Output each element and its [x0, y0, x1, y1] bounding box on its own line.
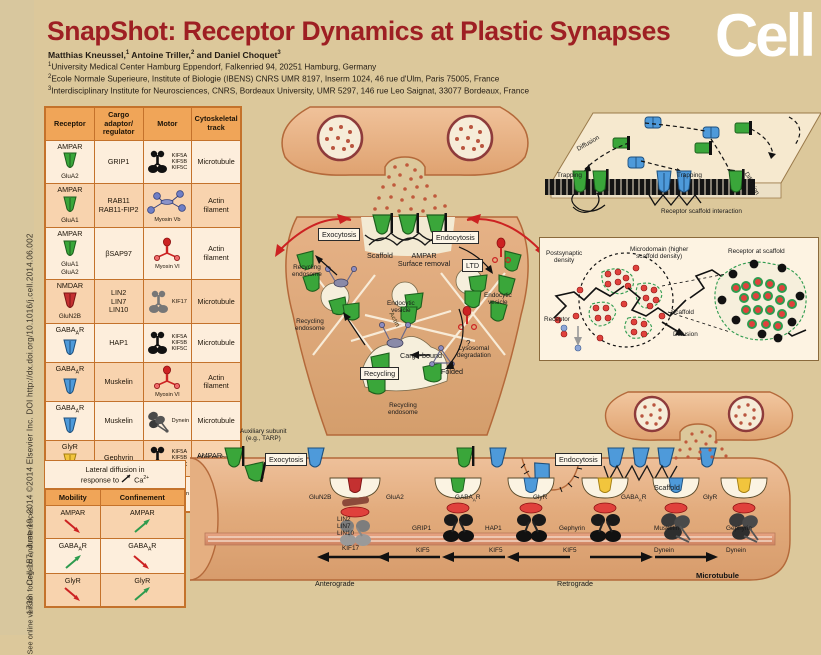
- author-list: Matthias Kneussel,1 Antoine Triller,2 an…: [48, 50, 281, 60]
- receptor-exit-dot: [561, 325, 567, 331]
- cell-cargo: GRIP1: [94, 140, 143, 184]
- receptor-name: AMPAR: [47, 230, 93, 238]
- cell-motor: Myosin VI: [143, 228, 192, 280]
- cell-cargo: HAP1: [94, 324, 143, 363]
- exocytosis-label-bottom: Exocytosis: [265, 453, 307, 466]
- table-row: NMDAR GluN2B LIN2LIN7LIN10: [46, 280, 241, 324]
- col-header-cargo: Cargoadaptor/regulator: [94, 108, 143, 141]
- receptor-at-scaffold-label: Receptor at scaffold: [728, 248, 785, 255]
- cell-motor: KIF5AKIF5BKIF5C: [143, 324, 192, 363]
- cargo-bound-label: Cargo-bound: [400, 352, 442, 360]
- cell-cargo: LIN2LIN7LIN10: [94, 280, 143, 324]
- receptor-blue-free-2: [703, 127, 719, 138]
- receptor-blue-free-1: [645, 117, 661, 128]
- table-row: AMPAR GluA2 GRIP1: [46, 140, 241, 184]
- arrow-down-red-icon: [62, 518, 84, 534]
- recycling-endosome-label-lower: Recyclingendosome: [388, 402, 418, 417]
- cell-track: Actinfilament: [192, 184, 241, 228]
- complex-adaptor-gephyrin-1: Gephyrin: [559, 525, 585, 532]
- receptor-name: GABAAR: [47, 326, 93, 338]
- complex-label-gabaar-2: GABAAR: [621, 494, 646, 504]
- receptor-glyph-green: [62, 152, 78, 172]
- cell-motor: KIF17: [143, 280, 192, 324]
- arrow-down-red-icon: [131, 554, 153, 570]
- poster-canvas: 1738 Cell 157, June 19, 2014 ©2014 Elsev…: [0, 0, 821, 635]
- bouton-outline-bottom: [606, 392, 793, 440]
- receptor-label-psd: Receptor: [544, 316, 570, 323]
- arrow-down-red-icon: [62, 586, 84, 602]
- receptor-subunit: GluN2B: [47, 313, 93, 321]
- dynein-icon: [146, 409, 170, 433]
- journal-side-strip: 1738 Cell 157, June 19, 2014 ©2014 Elsev…: [0, 0, 34, 635]
- kinesin-icon: [147, 331, 169, 355]
- cell-receptor: GABAAR: [46, 402, 95, 441]
- receptor-name: GABAAR: [47, 365, 93, 377]
- legend-col-confinement: Confinement: [100, 490, 184, 506]
- legend-label: GlyR: [65, 577, 81, 585]
- cell-motor: KIF5AKIF5BKIF5C: [143, 140, 192, 184]
- motor-name: KIF17: [172, 299, 187, 305]
- receptor-name: AMPAR: [47, 186, 93, 194]
- receptor-glyph-blue: [62, 417, 78, 437]
- table-row: GABAAR Muskelin: [46, 402, 241, 441]
- legend-row: GABAAR GABAAR: [46, 539, 185, 573]
- receptor-name: GABAAR: [47, 404, 93, 416]
- presynaptic-bouton-bottom: [600, 390, 800, 460]
- diffusion-label-psd: Diffusion: [673, 331, 698, 338]
- lateral-diffusion-legend: Lateral diffusion inresponse to Ca2+ Mob…: [44, 460, 186, 608]
- cell-motor: Myosin VI: [143, 363, 192, 402]
- col-header-track: Cytoskeletaltrack: [192, 108, 241, 141]
- motor-caption: Myosin VI: [155, 392, 180, 398]
- endocytosis-label: Endocytosis: [432, 231, 479, 244]
- legend-title: Lateral diffusion inresponse to Ca2+: [45, 461, 185, 489]
- legend-label: GABAAR: [128, 542, 156, 550]
- cell-receptor: AMPAR GluA2: [46, 140, 95, 184]
- motor-caption: Myosin VI: [155, 264, 180, 270]
- affiliation-3: 3Interdisciplinary Institute for Neurosc…: [48, 86, 529, 96]
- legend-row: AMPAR AMPAR: [46, 506, 185, 539]
- receptor-blue-free-3: [628, 157, 644, 168]
- col-header-motor: Motor: [143, 108, 192, 141]
- scaffold-label-bottom: Scaffold: [654, 484, 680, 492]
- table-row: GABAAR HAP1: [46, 324, 241, 363]
- recycling-label: Recycling: [360, 367, 399, 380]
- complex-motor-dynein-2: Dynein: [726, 547, 746, 554]
- cell-track: Actinfilament: [192, 363, 241, 402]
- receptor-name: AMPAR: [47, 143, 93, 151]
- receptor-glyph-green: [62, 240, 78, 260]
- complex-motor-kif17: KIF17: [342, 545, 359, 552]
- legend-confinement-ampar: AMPAR: [100, 506, 184, 539]
- cell-track: Microtubule: [192, 140, 241, 184]
- receptor-subunit: GluA1GluA2: [47, 261, 93, 278]
- arrow-up-green-icon: [62, 554, 84, 570]
- col-header-receptor: Receptor: [46, 108, 95, 141]
- myosin-v-icon: [145, 188, 189, 216]
- table-row: GABAAR Muskelin: [46, 363, 241, 402]
- motor-name: KIF5AKIF5BKIF5C: [171, 153, 187, 172]
- complex-adaptor-gephyrin-2: Gephyrin: [726, 525, 752, 532]
- trapped-receptor-green-right: [729, 169, 745, 192]
- complex-label-glun2b: GluN2B: [309, 494, 331, 501]
- cell-motor: Dynein: [143, 402, 192, 441]
- complex-adaptor-grip1: GRIP1: [412, 525, 431, 532]
- complex-motor-dynein-1: Dynein: [654, 547, 674, 554]
- cell-track: Microtubule: [192, 324, 241, 363]
- affiliation-2: 2Ecole Normale Superieure, Institute of …: [48, 74, 499, 84]
- receptor-exit-arrowhead: [574, 337, 582, 346]
- legend-label: AMPAR: [130, 509, 155, 517]
- legend-mobility-ampar: AMPAR: [46, 506, 101, 539]
- microtubule-label: Microtubule: [696, 571, 739, 580]
- auxiliary-subunit-label: Auxiliary subunit(e.g., TARP): [240, 428, 287, 443]
- legend-label: AMPAR: [60, 509, 85, 517]
- receptor-glyph-blue: [62, 339, 78, 359]
- complex-adaptor-muskelin: Muskelin: [654, 525, 679, 532]
- myosin-vi-icon: [150, 237, 184, 263]
- legend-confinement-glyr: GlyR: [100, 573, 184, 606]
- legend-mobility-gabaar: GABAAR: [46, 539, 101, 573]
- legend-label: GlyR: [134, 577, 150, 585]
- kinesin-icon: [147, 150, 169, 174]
- recycling-endosome-label-mid: Recyclingendosome: [295, 318, 325, 333]
- folded-label: Folded: [441, 368, 463, 376]
- receptor-subunit: GluA2: [47, 173, 93, 181]
- table-row: AMPAR GluA1 RAB11RAB11-FIP2: [46, 184, 241, 228]
- trapping-label-right: Trapping: [677, 172, 702, 179]
- page-title: SnapShot: Receptor Dynamics at Plastic S…: [47, 16, 670, 47]
- arrow-up-green-icon: [131, 586, 153, 602]
- affiliation-1: 1University Medical Center Hamburg Eppen…: [48, 62, 376, 72]
- postsynaptic-density-label: Postsynapticdensity: [546, 250, 582, 265]
- cell-receptor: AMPAR GluA1GluA2: [46, 228, 95, 280]
- cell-track: Microtubule: [192, 280, 241, 324]
- complex-label-glyr-1: GlyR: [533, 494, 547, 501]
- ampar-label-bottom: AMPAR: [197, 452, 222, 460]
- cell-receptor: GABAAR: [46, 324, 95, 363]
- legend-mobility-glyr: GlyR: [46, 573, 101, 606]
- complex-motor-kif5-b: KIF5: [489, 547, 503, 554]
- online-version-note: See online version for legend and refere…: [26, 395, 35, 655]
- cell-journal-logo: Cell: [715, 8, 813, 64]
- complex-motor-kif5-a: KIF5: [416, 547, 430, 554]
- complex-motor-kif5-c: KIF5: [563, 547, 577, 554]
- ampar-surface-removal-label: AMPARSurface removal: [379, 252, 469, 269]
- receptor-subunit: GluA1: [47, 217, 93, 225]
- question-mark-label: ?: [466, 340, 470, 347]
- receptor-green-free-2: [695, 141, 712, 155]
- receptor-scaffold-interaction-label: Receptor scaffold interaction: [661, 208, 742, 215]
- receptor-glyph-blue: [62, 378, 78, 398]
- trapping-label-left: Trapping: [557, 172, 582, 179]
- cell-receptor: NMDAR GluN2B: [46, 280, 95, 324]
- complex-label-glua2: GluA2: [386, 494, 404, 501]
- complex-adaptor-lin: LIN2LIN7LIN10: [337, 516, 354, 538]
- complex-label-gabaar-1: GABAAR: [455, 494, 480, 504]
- cell-cargo: βSAP97: [94, 228, 143, 280]
- receptor-name: NMDAR: [47, 282, 93, 290]
- myosin-vi-icon: [150, 365, 184, 391]
- anterograde-label: Anterograde: [315, 580, 355, 588]
- cell-track: Microtubule: [192, 402, 241, 441]
- cell-track: Actinfilament: [192, 228, 241, 280]
- retrograde-label: Retrograde: [557, 580, 593, 588]
- legend-row: GlyR GlyR: [46, 573, 185, 606]
- dendrite-shaft: [190, 458, 790, 580]
- exocytosis-label: Exocytosis: [318, 228, 360, 241]
- ltd-label: LTD: [462, 259, 483, 272]
- receptor-glyph-red: [62, 292, 78, 312]
- cell-receptor: AMPAR GluA1: [46, 184, 95, 228]
- motor-name: Dynein: [172, 418, 189, 424]
- kinesin-grey-icon: [148, 290, 170, 314]
- scaffold-label-psd: Scaffold: [671, 309, 694, 316]
- complex-label-glyr-2: GlyR: [703, 494, 717, 501]
- endocytosis-label-bottom: Endocytosis: [555, 453, 602, 466]
- motor-caption: Myosin Vb: [154, 217, 180, 223]
- receptor-exit-dot-2: [575, 345, 581, 351]
- receptor-name: GlyR: [47, 443, 93, 451]
- cell-cargo: Muskelin: [94, 402, 143, 441]
- motor-name: KIF5AKIF5BKIF5C: [171, 334, 187, 353]
- receptor-glyph-green: [62, 196, 78, 216]
- complex-adaptor-hap1: HAP1: [485, 525, 502, 532]
- up-arrow-icon: [121, 474, 132, 483]
- lysosomal-degradation-label: Lysosomaldegradation: [457, 345, 491, 360]
- cell-cargo: RAB11RAB11-FIP2: [94, 184, 143, 228]
- recycling-endosome-label-upper: Recyclingendosome: [292, 264, 322, 279]
- legend-label: GABAAR: [59, 542, 87, 550]
- membrane-diffusion-panel: [545, 105, 821, 235]
- cell-motor: Myosin Vb: [143, 184, 192, 228]
- legend-col-mobility: Mobility: [46, 490, 101, 506]
- receptor-green-free-3: [735, 121, 752, 135]
- arrow-up-green-icon: [131, 518, 153, 534]
- microdomain-label: Microdomain (higherscaffold density): [630, 246, 688, 261]
- cell-cargo: Muskelin: [94, 363, 143, 402]
- legend-confinement-gabaar: GABAAR: [100, 539, 184, 573]
- cell-receptor: GABAAR: [46, 363, 95, 402]
- endocytic-vesicle-label-right: Endocyticvesicle: [484, 292, 512, 307]
- table-row: AMPAR GluA1GluA2 βSAP97: [46, 228, 241, 280]
